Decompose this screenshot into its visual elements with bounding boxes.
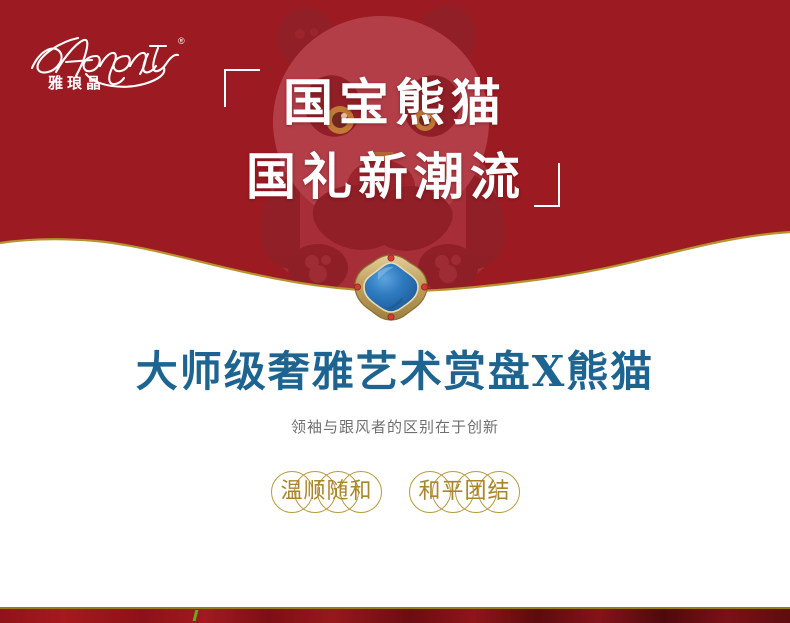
- strip-body: [0, 609, 790, 623]
- badge-char: 和: [344, 469, 377, 515]
- registered-mark: ®: [178, 36, 185, 46]
- badge-char: 结: [482, 469, 515, 515]
- gem-accent-left: [354, 284, 360, 290]
- hero-banner: ® 雅琅晶 国宝熊猫 国礼新潮流: [0, 0, 790, 330]
- badge-wenshunsuihe[interactable]: 温 顺 随 和: [275, 469, 377, 515]
- product-subline: 领袖与跟风者的区别在于创新: [0, 404, 790, 437]
- bottom-red-strip: [0, 607, 790, 623]
- panda-illustration: [261, 6, 506, 292]
- badge-hepingtuanjie[interactable]: 和 平 团 结: [413, 469, 515, 515]
- blue-gem-ornament: [352, 252, 430, 324]
- logo-chinese-name: 雅琅晶: [47, 74, 105, 92]
- brand-logo[interactable]: ® 雅琅晶: [26, 28, 226, 92]
- main-content: 大师级奢雅艺术赏盘X熊猫 领袖与跟风者的区别在于创新 温 顺 随 和 和 平 团…: [0, 340, 790, 515]
- feature-badges: 温 顺 随 和 和 平 团 结: [0, 437, 790, 515]
- product-headline: 大师级奢雅艺术赏盘X熊猫: [0, 340, 790, 404]
- gem-accent-right: [421, 284, 427, 290]
- promo-page: ® 雅琅晶 国宝熊猫 国礼新潮流: [0, 0, 790, 623]
- gem-accent-bottom: [388, 314, 394, 320]
- gem-accent-top: [388, 255, 394, 261]
